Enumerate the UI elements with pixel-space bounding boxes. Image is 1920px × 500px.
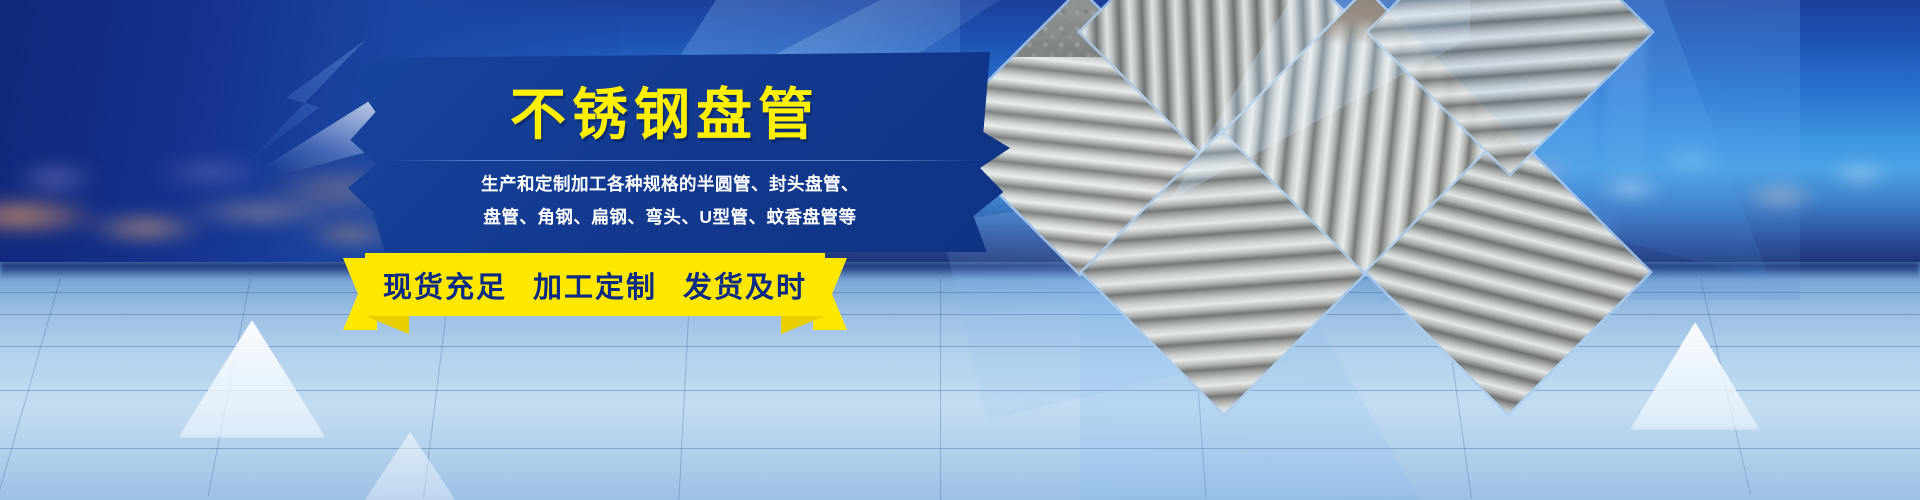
slogan-item-1: 加工定制 bbox=[533, 264, 657, 306]
plaza-triangle-highlight bbox=[1630, 322, 1760, 430]
product-photo-mosaic bbox=[1020, 0, 1580, 500]
tile-line-h bbox=[0, 314, 1920, 315]
plaza-triangle-highlight bbox=[350, 432, 470, 500]
slogan-list: 现货充足 加工定制 发货及时 bbox=[365, 253, 825, 316]
subtitle-line-1: 生产和定制加工各种规格的半圆管、封头盘管、 bbox=[345, 168, 995, 201]
subtitle-line-2: 盘管、角钢、扁钢、弯头、U型管、蚊香盘管等 bbox=[345, 201, 995, 234]
slogan-item-2: 发货及时 bbox=[683, 264, 807, 306]
tile-line-h bbox=[0, 448, 1920, 449]
ribbon-divider bbox=[385, 160, 980, 161]
plaza-triangle-highlight bbox=[178, 320, 326, 438]
tile-line-h bbox=[0, 346, 1920, 347]
slogan-item-0: 现货充足 bbox=[383, 264, 507, 306]
promo-banner: 不锈钢盘管 生产和定制加工各种规格的半圆管、封头盘管、 盘管、角钢、扁钢、弯头、… bbox=[0, 0, 1920, 500]
tile-line-v bbox=[940, 278, 941, 500]
headline-title-wrap: 不锈钢盘管 bbox=[345, 86, 985, 145]
headline-subtitle: 生产和定制加工各种规格的半圆管、封头盘管、 盘管、角钢、扁钢、弯头、U型管、蚊香… bbox=[345, 168, 995, 235]
page-title: 不锈钢盘管 bbox=[345, 86, 985, 145]
tile-line-v bbox=[0, 278, 61, 492]
